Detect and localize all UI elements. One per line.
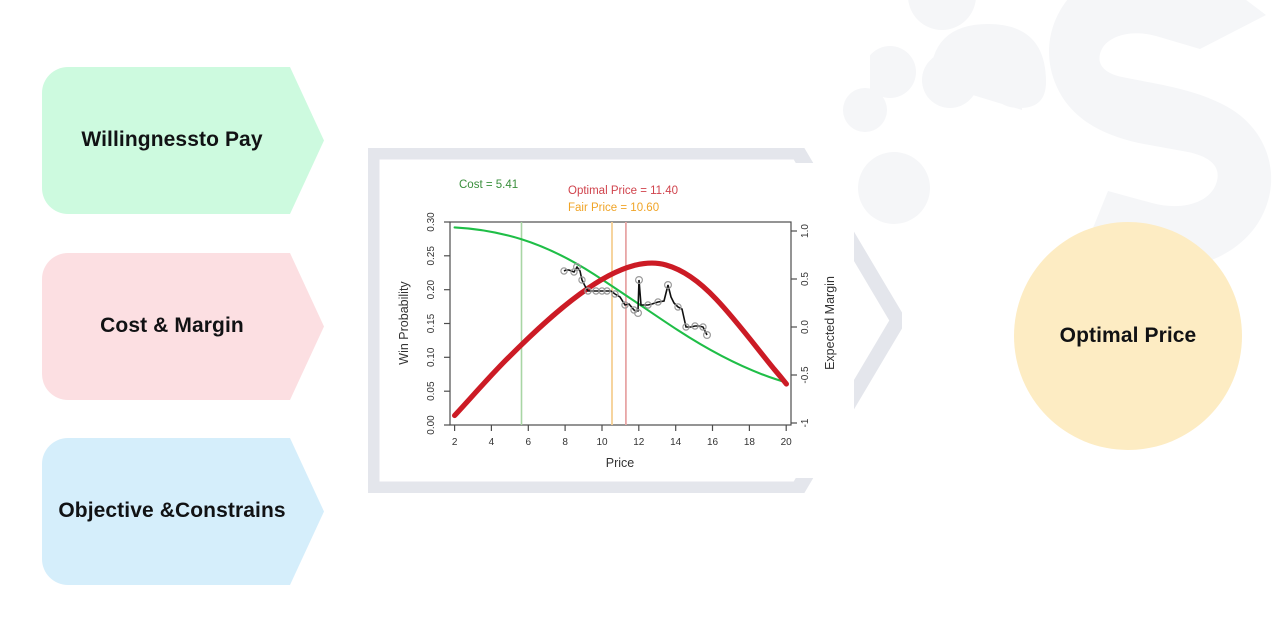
left-axis-tick-labels: 0.00 0.05 0.10 0.15 0.20 0.25 0.30 [426, 212, 437, 435]
svg-text:-1: -1 [800, 418, 811, 427]
chart-arrow-frame: Cost = 5.41 Optimal Price = 11.40 Fair P… [368, 148, 902, 493]
left-axis-ticks [444, 222, 450, 425]
svg-text:0.0: 0.0 [800, 320, 811, 334]
svg-text:2: 2 [452, 437, 458, 448]
svg-text:0.05: 0.05 [426, 381, 437, 401]
input-card-objective-and-constrains[interactable]: Objective & Constrains [42, 438, 324, 585]
price-optimization-plot: 0.00 0.05 0.10 0.15 0.20 0.25 0.30 Win P… [384, 163, 854, 478]
svg-text:20: 20 [781, 437, 793, 448]
card-label-line-2: to Pay [199, 127, 263, 154]
svg-text:16: 16 [707, 437, 719, 448]
svg-text:10: 10 [596, 437, 608, 448]
svg-text:0.10: 0.10 [426, 347, 437, 367]
svg-text:4: 4 [489, 437, 495, 448]
output-node-optimal-price[interactable]: Optimal Price [1014, 222, 1242, 450]
svg-text:18: 18 [744, 437, 756, 448]
card-label-line-1: Objective & [58, 498, 175, 525]
card-label-line-1: Willingness [81, 127, 199, 154]
input-card-cost-and-margin[interactable]: Cost & Margin [42, 253, 324, 400]
decor-blob-1 [843, 88, 887, 132]
input-card-willingness-to-pay[interactable]: Willingness to Pay [42, 67, 324, 214]
svg-text:0.00: 0.00 [426, 415, 437, 435]
y2-axis-title: Expected Margin [823, 276, 837, 370]
svg-text:14: 14 [670, 437, 682, 448]
y-axis-title: Win Probability [397, 281, 411, 365]
svg-text:6: 6 [526, 437, 532, 448]
svg-text:-0.5: -0.5 [800, 366, 811, 384]
slide-canvas: Willingness to Pay Cost & Margin Objecti… [0, 0, 1280, 640]
svg-text:1.0: 1.0 [800, 224, 811, 238]
x-axis-tick-labels: 2 4 6 8 10 12 14 16 18 20 [452, 437, 792, 448]
x-axis-title: Price [606, 456, 635, 470]
right-axis-ticks [791, 231, 797, 423]
card-label-line-2: Constrains [175, 498, 286, 525]
x-axis-ticks [455, 425, 787, 431]
svg-text:0.30: 0.30 [426, 212, 437, 232]
svg-text:0.25: 0.25 [426, 246, 437, 266]
chart-panel: Cost = 5.41 Optimal Price = 11.40 Fair P… [384, 163, 854, 478]
svg-text:8: 8 [562, 437, 568, 448]
svg-text:12: 12 [633, 437, 645, 448]
svg-text:0.20: 0.20 [426, 280, 437, 300]
right-axis-tick-labels: 1.0 0.5 0.0 -0.5 -1 [800, 224, 811, 428]
svg-text:0.5: 0.5 [800, 272, 811, 286]
output-node-label: Optimal Price [1060, 324, 1197, 348]
card-label-line-1: Cost & Margin [100, 313, 244, 340]
svg-text:0.15: 0.15 [426, 313, 437, 333]
